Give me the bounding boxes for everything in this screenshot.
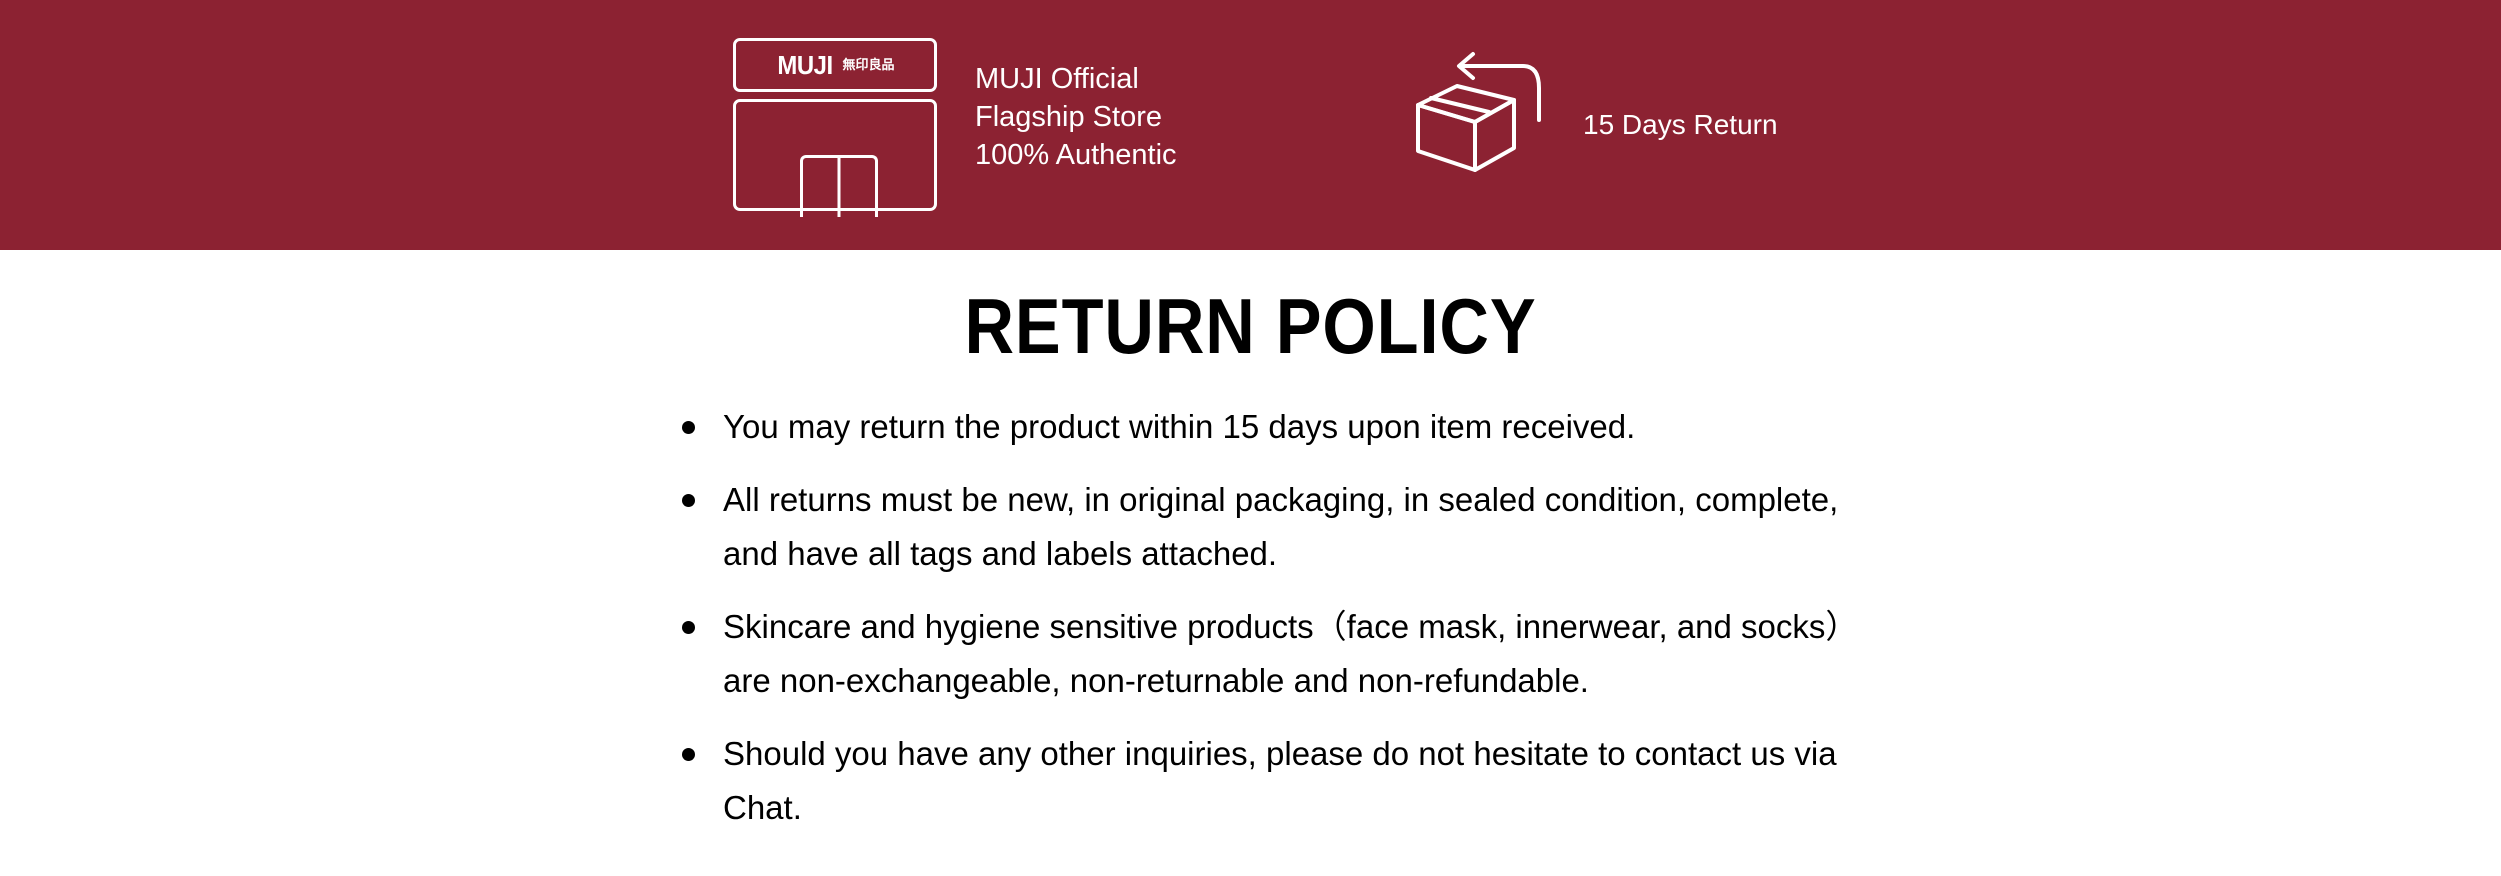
bullet-icon <box>682 621 695 634</box>
storefront-building <box>733 99 937 211</box>
storefront-door <box>800 155 878 217</box>
store-info-line-1: MUJI Official <box>975 60 1177 98</box>
store-info-line-2: Flagship Store <box>975 98 1177 136</box>
list-item: All returns must be new, in original pac… <box>676 473 1856 581</box>
list-item-text: All returns must be new, in original pac… <box>723 473 1856 581</box>
list-item-text: Skincare and hygiene sensitive products（… <box>723 600 1856 708</box>
muji-storefront-icon: MUJI 無印良品 <box>731 36 939 213</box>
return-box-svg <box>1413 42 1573 172</box>
promo-banner-content: MUJI 無印良品 MUJI Official Flagship Store 1… <box>0 0 2501 250</box>
list-item: You may return the product within 15 day… <box>676 400 1856 454</box>
page-title: RETURN POLICY <box>150 286 2351 366</box>
policy-list: You may return the product within 15 day… <box>676 400 1856 854</box>
promo-banner: MUJI 無印良品 MUJI Official Flagship Store 1… <box>0 0 2501 250</box>
store-info-text: MUJI Official Flagship Store 100% Authen… <box>975 60 1177 174</box>
bullet-icon <box>682 421 695 434</box>
storefront-sign: MUJI 無印良品 <box>733 38 937 92</box>
storefront-door-divider <box>838 158 841 217</box>
bullet-icon <box>682 748 695 761</box>
muji-wordmark-japanese: 無印良品 <box>843 59 895 72</box>
muji-wordmark: MUJI <box>778 52 833 78</box>
bullet-icon <box>682 494 695 507</box>
list-item: Skincare and hygiene sensitive products（… <box>676 600 1856 708</box>
list-item: Should you have any other inquiries, ple… <box>676 727 1856 835</box>
return-policy-label: 15 Days Return <box>1583 108 1778 142</box>
return-policy-section: RETURN POLICY You may return the product… <box>0 250 2501 876</box>
list-item-text: You may return the product within 15 day… <box>723 400 1856 454</box>
list-item-text: Should you have any other inquiries, ple… <box>723 727 1856 835</box>
return-box-icon <box>1413 42 1573 172</box>
store-info-line-3: 100% Authentic <box>975 136 1177 174</box>
